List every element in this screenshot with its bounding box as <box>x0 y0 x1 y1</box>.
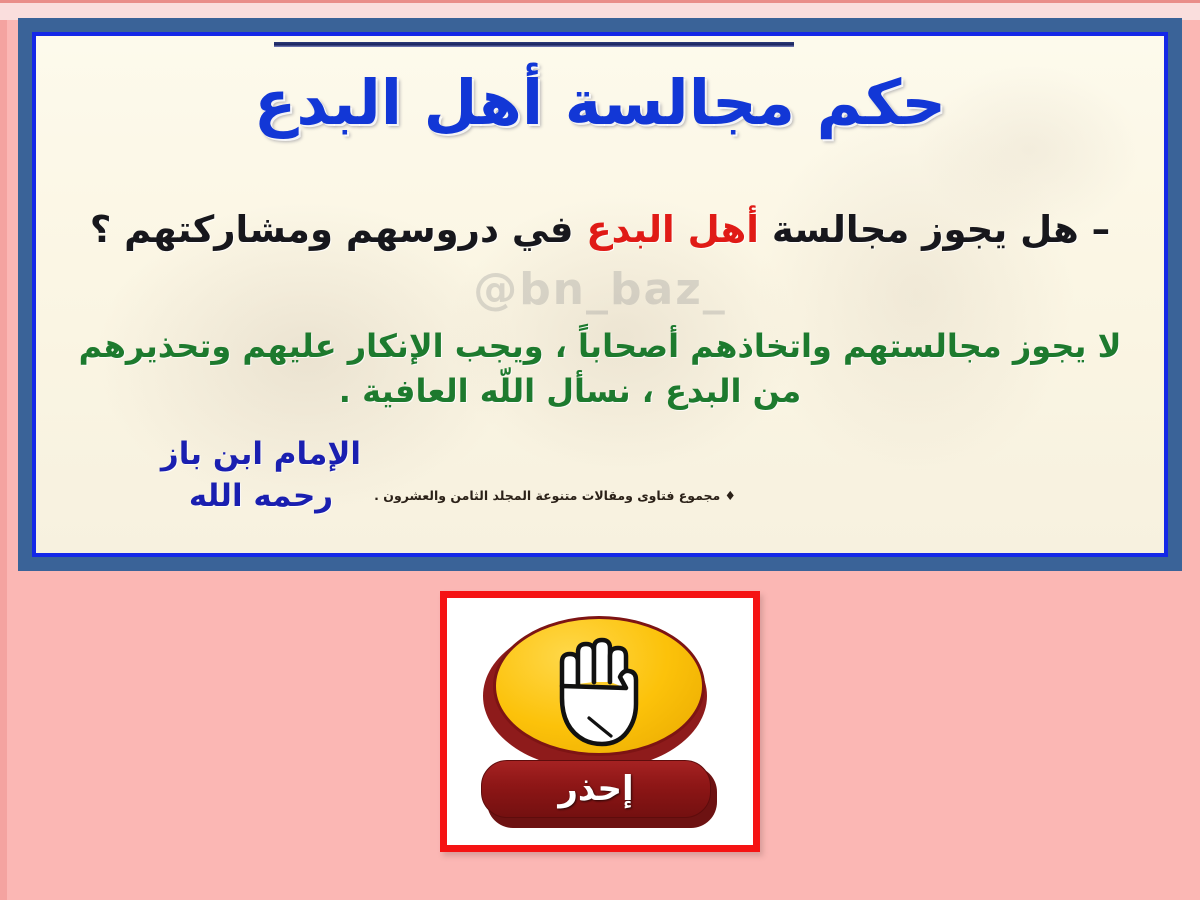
raised-hand-stop-icon <box>531 626 663 752</box>
top-pink-band <box>0 0 1200 20</box>
question-suffix: في دروسهم ومشاركتهم ؟ <box>90 208 587 251</box>
left-pink-band <box>0 20 7 900</box>
question-prefix: – هل يجوز مجالسة <box>759 208 1110 251</box>
attribution-name: الإمام ابن باز <box>96 434 426 476</box>
top-hairline <box>0 0 1200 3</box>
page-title: حكم مجالسة أهل البدع <box>36 66 1164 139</box>
poster-card-inner-border: @bn_baz_ حكم مجالسة أهل البدع – هل يجوز … <box>32 32 1168 557</box>
warning-logo-inner: إحذر <box>447 598 753 845</box>
answer-line-1: لا يجوز مجالستهم واتخاذهم أصحاباً ، ويجب… <box>79 327 1122 365</box>
poster-card: @bn_baz_ حكم مجالسة أهل البدع – هل يجوز … <box>18 18 1182 571</box>
poster-canvas: @bn_baz_ حكم مجالسة أهل البدع – هل يجوز … <box>36 36 1164 553</box>
answer-block: لا يجوز مجالستهم واتخاذهم أصحاباً ، ويجب… <box>36 324 1164 415</box>
question-line: – هل يجوز مجالسة أهل البدع في دروسهم ومش… <box>36 208 1164 251</box>
source-reference: ♦ مجموع فتاوى ومقالات متنوعة المجلد الثا… <box>36 488 1164 503</box>
poster-page: @bn_baz_ حكم مجالسة أهل البدع – هل يجوز … <box>0 0 1200 900</box>
warning-logo-box: إحذر <box>440 591 760 852</box>
top-navy-rule <box>274 42 794 47</box>
answer-line-2: من البدع ، نسأل اللّه العافية . <box>36 369 1164 414</box>
watermark-handle: @bn_baz_ <box>36 264 1164 315</box>
warning-plaque-label: إحذر <box>482 761 710 817</box>
attribution-block: الإمام ابن باز رحمه الله <box>96 434 426 518</box>
warning-plaque: إحذر <box>481 760 711 818</box>
question-highlight: أهل البدع <box>586 208 759 251</box>
